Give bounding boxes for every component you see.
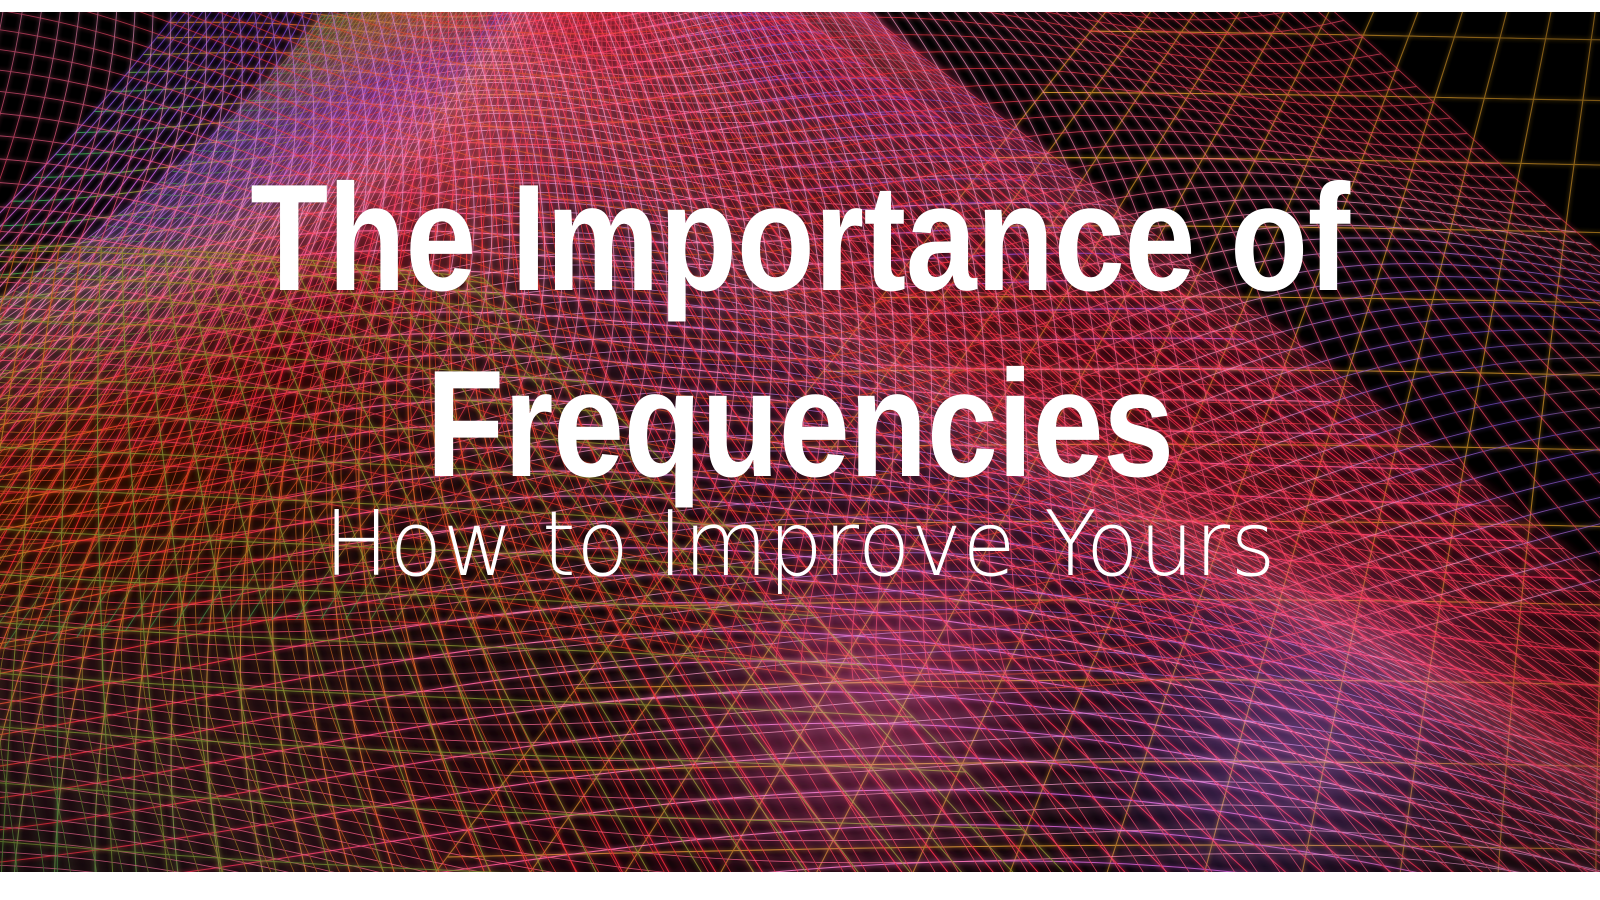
hero-banner: The Importance of Frequencies How to Imp…	[0, 0, 1600, 900]
wireframe-mesh-graphic	[0, 12, 1600, 872]
wireframe-artwork	[0, 12, 1600, 872]
